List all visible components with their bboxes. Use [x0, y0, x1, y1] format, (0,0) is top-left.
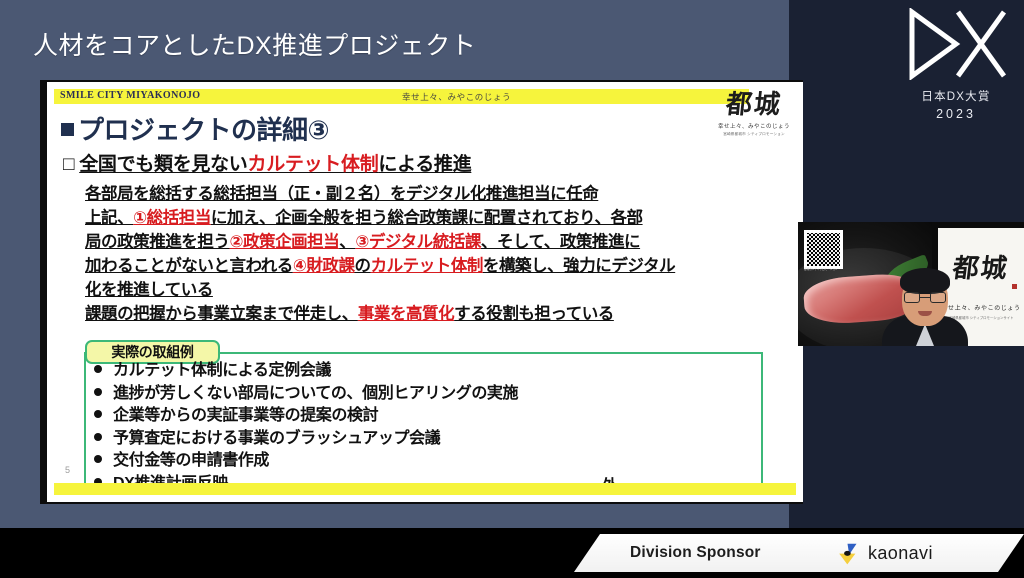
slide-page-number: 5 — [65, 465, 70, 475]
body-run-1-0: 上記、 — [85, 209, 133, 227]
glasses-bridge — [920, 297, 930, 298]
presentation-stage: 人材をコアとしたDX推進プロジェクト 日本DX大賞 2023 SMILE CIT… — [0, 0, 1024, 578]
slide-subheading: □全国でも類を見ないカルテット体制による推進 — [63, 149, 471, 176]
body-line: 各部局を総括する総括担当（正・副２名）をデジタル化推進担当に任命 — [85, 182, 790, 206]
slide-body: 各部局を総括する総括担当（正・副２名）をデジタル化推進担当に任命上記、①総括担当… — [85, 182, 790, 326]
list-item: 企業等からの実証事業等の提案の検討 — [94, 405, 754, 428]
body-run-2-2: 、 — [339, 233, 355, 251]
award-logo-name: 日本DX大賞 — [900, 88, 1012, 104]
slide-heading: プロジェクトの詳細③ — [61, 110, 329, 147]
slide-heading-text: プロジェクトの詳細③ — [78, 115, 329, 145]
glasses-lens-left — [904, 292, 920, 303]
body-run-3-1: ④財政課 — [293, 257, 355, 275]
qr-code-icon — [804, 230, 843, 269]
body-run-0-0: 各部局を総括する総括担当（正・副２名）をデジタル化推進担当に任命 — [85, 185, 598, 203]
body-run-5-1: 事業を高質化 — [358, 305, 454, 323]
body-line: 加わることがないと言われる④財政課のカルテット体制を構築し、強力にデジタル — [85, 254, 790, 278]
sponsor-bar: Division Sponsor kaonavi — [574, 534, 1024, 574]
slide-footer-band — [54, 483, 796, 495]
page-title: 人材をコアとしたDX推進プロジェクト — [33, 29, 476, 63]
body-run-3-4: を構築し、強力にデジタル — [483, 257, 675, 275]
subheading-run-2: による推進 — [378, 154, 471, 175]
city-logo-kanji: 都城 — [725, 92, 784, 118]
bullet-dot-icon — [94, 433, 102, 441]
body-line: 課題の把握から事業立案まで伴走し、事業を高質化する役割も担っている — [85, 302, 790, 326]
body-run-2-4: 、そして、政策推進に — [481, 233, 640, 251]
list-item-label: 予算査定における事業のブラッシュアップ会議 — [113, 430, 440, 447]
slide-brand-en: SMILE CITY MIYAKONOJO — [60, 90, 200, 101]
award-logo-year: 2023 — [900, 107, 1012, 121]
body-run-2-1: ②政策企画担当 — [229, 233, 339, 251]
body-run-3-2: の — [355, 257, 371, 275]
list-item: 進捗が芳しくない部局についての、個別ヒアリングの実施 — [94, 383, 754, 406]
body-run-1-1: ①総括担当 — [133, 209, 211, 227]
slide-brand-jp: 幸せ上々、みやこのじょう — [402, 91, 511, 103]
dx-bowtie-icon — [904, 8, 1008, 80]
sponsor-label: Division Sponsor — [630, 544, 761, 562]
body-run-1-2: に加え、企画全般を担う総合政策課に配置されており、各部 — [211, 209, 643, 227]
list-item-label: 企業等からの実証事業等の提案の検討 — [113, 407, 378, 424]
speaker-hair — [900, 268, 950, 294]
body-run-2-0: 局の政策推進を担う — [85, 233, 229, 251]
body-run-3-0: 加わることがないと言われる — [85, 257, 293, 275]
body-run-5-0: 課題の把握から事業立案まで伴走し、 — [85, 305, 358, 323]
award-logo: 日本DX大賞 2023 — [900, 8, 1012, 130]
kaonavi-logo-icon — [836, 542, 860, 566]
city-logo-sub: 幸せ上々、みやこのじょう — [711, 125, 797, 131]
bullet-dot-icon — [94, 410, 102, 418]
video-speaker-avatar — [882, 264, 968, 346]
qr-caption: 都城市シティプロモーション — [804, 267, 843, 271]
list-item-label: カルテット体制による定例会議 — [113, 362, 331, 379]
red-seal-icon — [1012, 284, 1017, 289]
city-logo-sub2: 宮崎県都城市 シティプロモーション — [711, 133, 797, 137]
glasses-lens-right — [930, 292, 946, 303]
sponsor-name: kaonavi — [868, 543, 933, 564]
city-logo: 都城 幸せ上々、みやこのじょう 宮崎県都城市 シティプロモーション — [711, 87, 797, 149]
subheading-run-0: 全国でも類を見ない — [79, 154, 247, 175]
list-item-label: 進捗が芳しくない部局についての、個別ヒアリングの実施 — [113, 385, 518, 402]
sponsor-logo[interactable]: kaonavi — [836, 540, 1006, 568]
list-item: カルテット体制による定例会議 — [94, 360, 754, 383]
subheading-run-1: カルテット体制 — [248, 154, 379, 175]
body-line: 化を推進している — [85, 278, 790, 302]
bullet-dot-icon — [94, 365, 102, 373]
body-run-3-3: カルテット体制 — [371, 257, 483, 275]
body-line: 局の政策推進を担う②政策企画担当、③デジタル統括課、そして、政策推進に — [85, 230, 790, 254]
examples-list: カルテット体制による定例会議進捗が芳しくない部局についての、個別ヒアリングの実施… — [94, 360, 754, 495]
body-run-2-3: ③デジタル統括課 — [355, 233, 481, 251]
body-run-4-0: 化を推進している — [85, 281, 213, 299]
bullet-dot-icon — [94, 388, 102, 396]
list-item-label: 交付金等の申請書作成 — [113, 452, 269, 469]
open-square-bullet-icon: □ — [63, 154, 74, 176]
list-item: 交付金等の申請書作成 — [94, 450, 754, 473]
bullet-dot-icon — [94, 455, 102, 463]
square-bullet-icon — [61, 123, 74, 136]
video-participant-tile[interactable]: 都城市シティプロモーション 都城 幸せ上々、みやこのじょう 宮崎県都城市 シティ… — [798, 222, 1024, 346]
speaker-glasses — [904, 292, 946, 303]
body-line: 上記、①総括担当に加え、企画全般を担う総合政策課に配置されており、各部 — [85, 206, 790, 230]
slide: SMILE CITY MIYAKONOJO 幸せ上々、みやこのじょう 都城 幸せ… — [47, 82, 803, 502]
body-run-5-2: する役割も担っている — [454, 305, 614, 323]
list-item: 予算査定における事業のブラッシュアップ会議 — [94, 428, 754, 451]
